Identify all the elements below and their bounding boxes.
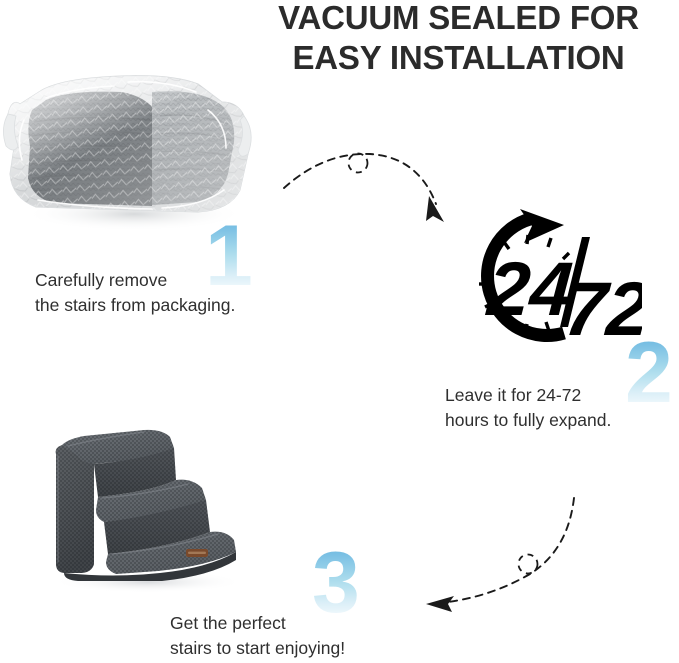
- step-caption-1-line-2: the stairs from packaging.: [35, 293, 235, 318]
- step-number-2: 2: [625, 330, 671, 416]
- infographic-canvas: VACUUM SEALED FOR EASY INSTALLATION: [0, 0, 679, 663]
- step-caption-3-line-2: stairs to start enjoying!: [170, 636, 345, 661]
- step-caption-2: Leave it for 24-72 hours to fully expand…: [445, 383, 611, 433]
- arrow-step2-to-step3-icon: [418, 488, 604, 624]
- vacuum-sealed-package-image: [2, 62, 260, 232]
- headline-line-2: EASY INSTALLATION: [238, 38, 679, 78]
- step-caption-3: Get the perfect stairs to start enjoying…: [170, 611, 345, 661]
- clock-24-72-icon: 24 72: [432, 203, 642, 355]
- brand-tag: [186, 549, 208, 557]
- step-caption-2-line-1: Leave it for 24-72: [445, 383, 611, 408]
- step-caption-3-line-1: Get the perfect: [170, 611, 345, 636]
- clock-hours-primary: 24: [483, 247, 575, 332]
- headline-line-1: VACUUM SEALED FOR: [238, 0, 679, 38]
- step-caption-1: Carefully remove the stairs from packagi…: [35, 268, 235, 318]
- step-caption-1-line-1: Carefully remove: [35, 268, 235, 293]
- page-title: VACUUM SEALED FOR EASY INSTALLATION: [238, 0, 679, 78]
- pet-stairs-image: [38, 418, 253, 593]
- step-caption-2-line-2: hours to fully expand.: [445, 408, 611, 433]
